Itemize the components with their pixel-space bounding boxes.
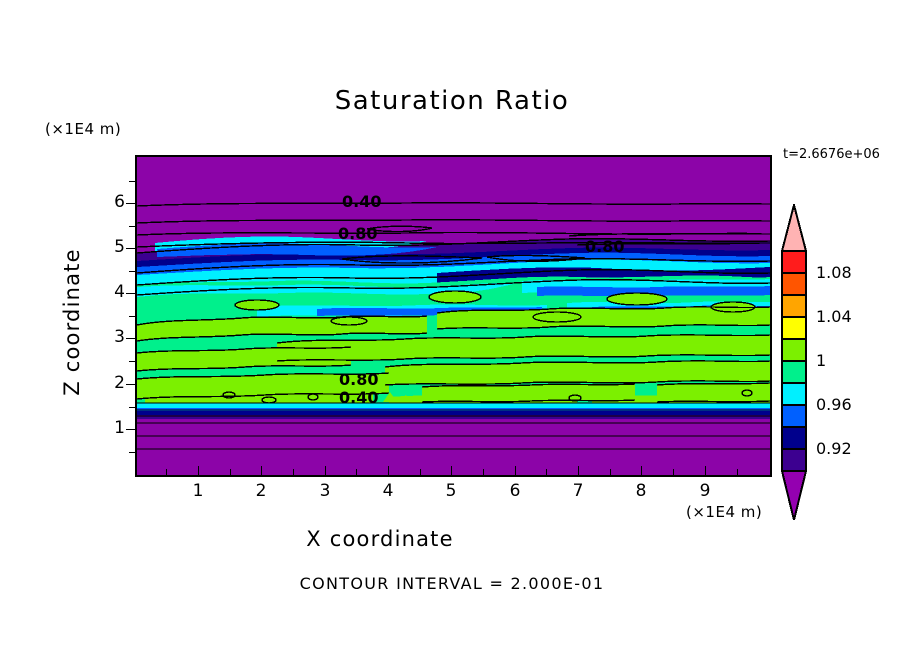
colorbar[interactable] [779,204,809,521]
y-tick-minor [129,452,135,453]
y-tick-minor [129,361,135,362]
x-tick-minor [673,469,674,475]
contour-field [137,157,770,475]
x-axis-unit-label: (×1E4 m) [686,503,762,521]
colorbar-tick-label: 1.08 [816,263,852,282]
x-tick-label: 4 [376,481,400,501]
x-tick-label: 8 [629,481,653,501]
y-tick-minor [129,271,135,272]
y-tick-minor [129,316,135,317]
y-tick-major [126,384,135,385]
colorbar-band [782,317,806,339]
x-tick-major [451,466,452,475]
contour-plot-area[interactable] [135,155,772,477]
y-tick-minor [129,181,135,182]
y-tick-major [126,338,135,339]
x-tick-minor [293,469,294,475]
y-tick-major [126,248,135,249]
y-tick-label: 2 [103,373,125,393]
x-tick-minor [166,469,167,475]
y-axis-unit-label: (×1E4 m) [45,120,121,138]
y-tick-major [126,203,135,204]
x-tick-minor [483,469,484,475]
x-tick-minor [610,469,611,475]
y-tick-minor [129,226,135,227]
x-tick-minor [737,469,738,475]
x-tick-major [388,466,389,475]
y-tick-label: 3 [103,327,125,347]
colorbar-band [782,361,806,383]
timestamp-label: t=2.6676e+06 [783,147,880,162]
colorbar-tick-labels: 1.08 1.04 1 0.96 0.92 [816,204,896,521]
x-tick-minor [230,469,231,475]
x-tick-label: 2 [249,481,273,501]
contour-label-080-right: 0.80 [585,237,624,256]
y-tick-major [126,429,135,430]
y-tick-minor [129,407,135,408]
colorbar-tick-label: 0.96 [816,395,852,414]
contour-label-080-upper: 0.80 [338,224,377,243]
y-axis-title: Z coordinate [60,227,84,417]
colorbar-tick-label: 0.92 [816,439,852,458]
x-tick-major [515,466,516,475]
contour-interval-label: CONTOUR INTERVAL = 2.000E-01 [0,574,904,593]
figure-canvas: Saturation Ratio (×1E4 m) t=2.6676e+06 Z… [0,0,904,654]
y-tick-label: 1 [103,418,125,438]
colorbar-tick-label: 1.04 [816,307,852,326]
y-tick-label: 4 [103,282,125,302]
colorbar-over-arrow [782,205,806,251]
contour-label-080-lower: 0.80 [339,370,378,389]
colorbar-under-arrow [782,471,806,520]
x-tick-label: 6 [503,481,527,501]
colorbar-band [782,295,806,317]
x-axis-title: X coordinate [0,527,760,551]
contour-label-040-lower: 0.40 [339,388,378,407]
colorbar-band [782,449,806,471]
y-tick-label: 6 [103,192,125,212]
x-tick-major [325,466,326,475]
x-tick-minor [420,469,421,475]
x-tick-label: 1 [186,481,210,501]
colorbar-band [782,427,806,449]
colorbar-tick-label: 1 [816,351,826,370]
x-tick-label: 3 [313,481,337,501]
x-tick-major [578,466,579,475]
colorbar-band [782,383,806,405]
y-tick-major [126,293,135,294]
x-tick-major [261,466,262,475]
y-tick-label: 5 [103,237,125,257]
x-tick-minor [546,469,547,475]
colorbar-band [782,273,806,295]
contour-label-040-upper: 0.40 [342,192,381,211]
colorbar-band [782,405,806,427]
x-tick-major [705,466,706,475]
x-tick-label: 9 [693,481,717,501]
x-tick-major [198,466,199,475]
page-title: Saturation Ratio [0,86,904,116]
x-tick-minor [356,469,357,475]
x-tick-label: 7 [566,481,590,501]
x-tick-major [641,466,642,475]
colorbar-band [782,339,806,361]
x-tick-label: 5 [439,481,463,501]
colorbar-band [782,251,806,273]
